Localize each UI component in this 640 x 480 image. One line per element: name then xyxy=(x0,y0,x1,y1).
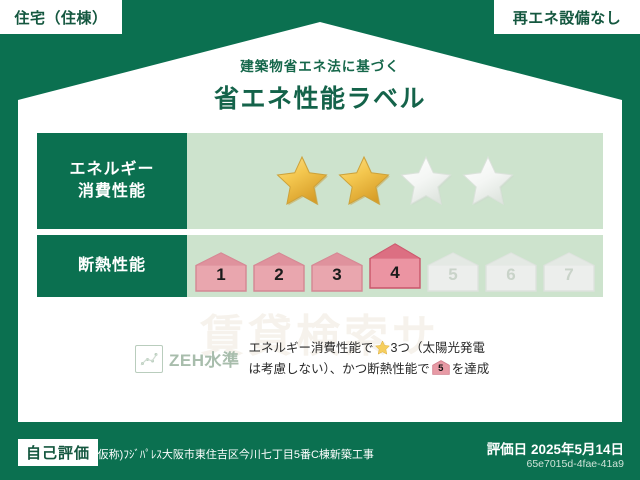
label-footer: 自己評価 (仮称)ﾌｼﾞﾊﾟﾚｽ大阪市東住吉区今川七丁目5番C棟新築工事 評価日… xyxy=(0,430,640,480)
star-empty-icon xyxy=(461,154,515,208)
zeh-badge: ZEH水準 xyxy=(135,345,240,373)
insulation-grade-4: 4 xyxy=(368,243,422,289)
star-rating xyxy=(275,154,515,208)
renewable-energy-label: 再エネ設備なし xyxy=(513,7,622,28)
row-energy-consumption-value xyxy=(187,133,603,229)
insulation-grade-3: 3 xyxy=(310,249,364,289)
zeh-badge-label: ZEH水準 xyxy=(169,346,240,371)
building-type-tag: 住宅（住棟） xyxy=(0,0,122,34)
star-filled-icon xyxy=(275,154,329,208)
evaluation-id: 65e7015d-4fae-41a9 xyxy=(526,458,624,470)
insulation-grade-5-value: 5 xyxy=(426,266,480,283)
zeh-desc-part4: を達成 xyxy=(452,362,490,376)
insulation-grade-3-value: 3 xyxy=(310,266,364,283)
insulation-grade-2: 2 xyxy=(252,249,306,289)
row-insulation-label: 断熱性能 xyxy=(37,235,187,297)
energy-performance-label: 住宅（住棟） 再エネ設備なし 建築物省エネ法に基づく 省エネ性能ラベル 賃貸検索… xyxy=(0,0,640,480)
zeh-desc-part3: は考慮しない）、かつ断熱性能で xyxy=(249,362,430,376)
row-insulation-value: 1234567 xyxy=(187,235,603,297)
insulation-grade-1-value: 1 xyxy=(194,266,248,283)
metric-rows: エネルギー 消費性能 断熱性能 1234567 xyxy=(37,133,603,303)
inline-grade-badge: 5 xyxy=(432,360,450,375)
row-insulation: 断熱性能 1234567 xyxy=(37,235,603,297)
insulation-grade-1: 1 xyxy=(194,249,248,289)
evaluation-date: 評価日 2025年5月14日 xyxy=(487,438,624,458)
building-type-label: 住宅（住棟） xyxy=(14,7,107,28)
insulation-grade-4-value: 4 xyxy=(368,264,422,281)
row-energy-consumption-label-line1: エネルギー xyxy=(69,159,154,181)
row-energy-consumption-label-line2: 消費性能 xyxy=(78,181,146,203)
inline-star-icon xyxy=(374,341,391,355)
insulation-grade-2-value: 2 xyxy=(252,266,306,283)
row-insulation-label-line1: 断熱性能 xyxy=(78,255,146,277)
star-filled-icon xyxy=(337,154,391,208)
zeh-description: エネルギー消費性能で3つ（太陽光発電は考慮しない）、かつ断熱性能で5を達成 xyxy=(249,338,490,379)
insulation-grade-6: 6 xyxy=(484,249,538,289)
zeh-desc-part1: エネルギー消費性能で xyxy=(249,341,374,355)
renewable-energy-tag: 再エネ設備なし xyxy=(494,0,640,34)
row-energy-consumption: エネルギー 消費性能 xyxy=(37,133,603,229)
zeh-standard-note: ZEH水準 エネルギー消費性能で3つ（太陽光発電は考慮しない）、かつ断熱性能で5… xyxy=(135,338,489,379)
zeh-chart-icon xyxy=(135,345,163,373)
insulation-grade-7-value: 7 xyxy=(542,266,596,283)
insulation-grade-scale: 1234567 xyxy=(194,243,596,289)
self-evaluation-badge: 自己評価 xyxy=(18,439,98,466)
project-name: (仮称)ﾌｼﾞﾊﾟﾚｽ大阪市東住吉区今川七丁目5番C棟新築工事 xyxy=(94,446,374,462)
row-energy-consumption-label: エネルギー 消費性能 xyxy=(37,133,187,229)
insulation-grade-5: 5 xyxy=(426,249,480,289)
zeh-desc-part2: 3つ（太陽光発電 xyxy=(391,341,485,355)
insulation-grade-7: 7 xyxy=(542,249,596,289)
inline-grade-value: 5 xyxy=(432,364,450,374)
star-empty-icon xyxy=(399,154,453,208)
insulation-grade-6-value: 6 xyxy=(484,266,538,283)
